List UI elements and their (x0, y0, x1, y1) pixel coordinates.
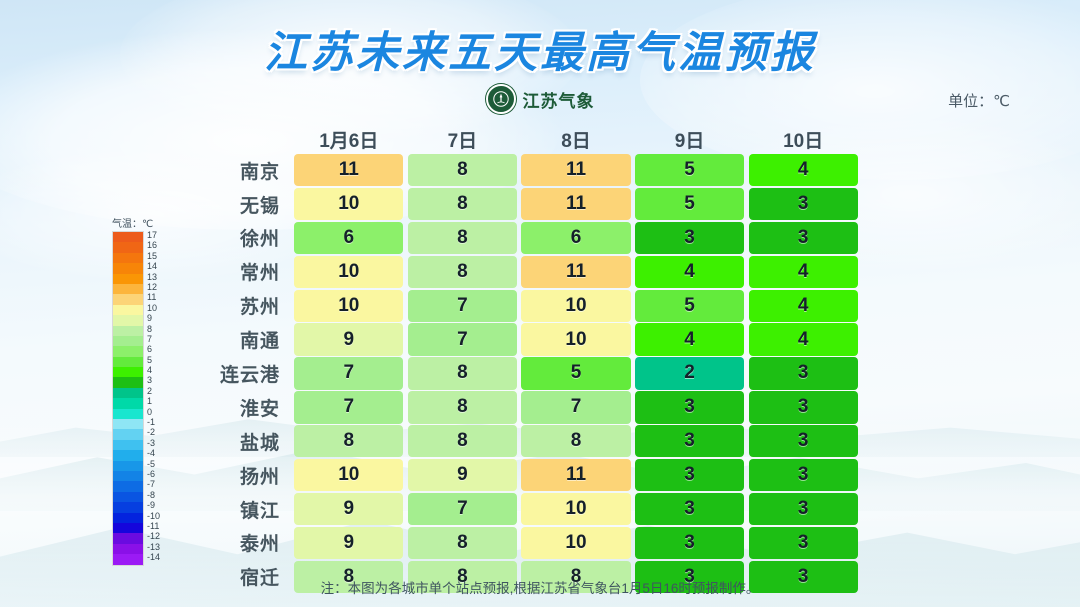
cell-slot: 4 (746, 256, 860, 288)
legend-band-label: 10 (147, 303, 157, 313)
cell-slot: 3 (746, 188, 860, 220)
temperature-cell: 7 (294, 357, 403, 389)
legend-band-label: -11 (147, 521, 159, 531)
temperature-cell: 9 (408, 459, 517, 491)
temperature-cell: 4 (749, 323, 858, 355)
temperature-cell: 10 (294, 290, 403, 322)
legend-band: 10 (113, 305, 143, 315)
cell-slot: 8 (292, 425, 406, 457)
forecast-table: 1月6日7日8日9日10日 南京1181154无锡1081153徐州68633常… (196, 124, 860, 595)
table-row: 南京1181154 (196, 154, 860, 186)
cell-slot: 3 (633, 425, 747, 457)
temperature-cell: 4 (635, 323, 744, 355)
cell-slot: 5 (519, 357, 633, 389)
cell-slot: 10 (292, 256, 406, 288)
column-header-date: 8日 (519, 126, 633, 153)
cell-slot: 8 (406, 188, 520, 220)
legend-band-label: -14 (147, 552, 160, 562)
row-header-city: 南通 (196, 323, 292, 355)
legend-band: 15 (113, 253, 143, 263)
column-header-date: 1月6日 (292, 126, 406, 153)
cell-slot: 3 (746, 493, 860, 525)
legend-band: -1 (113, 419, 143, 429)
cell-slot: 8 (519, 425, 633, 457)
cell-slot: 11 (519, 188, 633, 220)
temperature-cell: 3 (749, 493, 858, 525)
legend-band: 2 (113, 388, 143, 398)
legend-band-label: -7 (147, 479, 155, 489)
temperature-cell: 8 (408, 391, 517, 423)
temperature-cell: 8 (408, 222, 517, 254)
legend-band-label: 8 (147, 324, 152, 334)
temperature-cell: 4 (749, 256, 858, 288)
legend-band: 8 (113, 326, 143, 336)
cell-slot: 10 (292, 290, 406, 322)
legend-band: 6 (113, 346, 143, 356)
legend-band: 12 (113, 284, 143, 294)
table-body: 南京1181154无锡1081153徐州68633常州1081144苏州1071… (196, 154, 860, 593)
temperature-cell: 3 (749, 391, 858, 423)
temperature-cell: 10 (521, 527, 630, 559)
cell-slot: 3 (746, 222, 860, 254)
legend-band-label: 2 (147, 386, 152, 396)
temperature-cell: 10 (521, 290, 630, 322)
legend-band-label: -4 (147, 448, 155, 458)
row-header-city: 盐城 (196, 425, 292, 457)
temperature-cell: 10 (294, 188, 403, 220)
cell-slot: 9 (406, 459, 520, 491)
legend-band: -5 (113, 461, 143, 471)
row-header-city: 泰州 (196, 527, 292, 559)
cell-slot: 3 (633, 527, 747, 559)
temperature-cell: 3 (635, 391, 744, 423)
temperature-cell: 8 (408, 188, 517, 220)
temperature-cell: 9 (294, 527, 403, 559)
temperature-cell: 5 (635, 154, 744, 186)
legend-band-label: 17 (147, 230, 157, 240)
cell-slot: 8 (406, 357, 520, 389)
legend-band: -11 (113, 523, 143, 533)
cell-slot: 3 (633, 222, 747, 254)
legend-band: 0 (113, 409, 143, 419)
cell-slot: 4 (746, 290, 860, 322)
cell-slot: 11 (519, 459, 633, 491)
unit-label: 单位：℃ (948, 90, 1010, 111)
temperature-cell: 11 (521, 188, 630, 220)
legend-band: 3 (113, 377, 143, 387)
legend-band: 5 (113, 357, 143, 367)
legend-band-label: 16 (147, 240, 157, 250)
cell-slot: 10 (292, 188, 406, 220)
temperature-cell: 7 (408, 493, 517, 525)
legend-band-label: 9 (147, 313, 152, 323)
temperature-cell: 4 (749, 290, 858, 322)
legend-band-label: 0 (147, 407, 152, 417)
temperature-cell: 11 (294, 154, 403, 186)
legend-band-label: 15 (147, 251, 157, 261)
cell-slot: 5 (633, 154, 747, 186)
table-row: 盐城88833 (196, 425, 860, 457)
cell-slot: 7 (406, 493, 520, 525)
table-row: 泰州981033 (196, 527, 860, 559)
temperature-cell: 7 (294, 391, 403, 423)
cell-slot: 3 (746, 425, 860, 457)
table-row: 南通971044 (196, 323, 860, 355)
temperature-cell: 10 (294, 256, 403, 288)
temperature-cell: 6 (521, 222, 630, 254)
table-row: 镇江971033 (196, 493, 860, 525)
temperature-cell: 3 (749, 527, 858, 559)
legend-band: 7 (113, 336, 143, 346)
temperature-cell: 3 (749, 357, 858, 389)
column-header-date: 9日 (633, 126, 747, 153)
legend-band-label: -3 (147, 438, 155, 448)
temperature-cell: 8 (408, 527, 517, 559)
legend-title: 气温：℃ (112, 215, 172, 230)
temperature-cell: 3 (749, 459, 858, 491)
row-header-city: 连云港 (196, 357, 292, 389)
legend-band-label: 3 (147, 375, 152, 385)
cell-slot: 9 (292, 527, 406, 559)
table-row: 苏州1071054 (196, 290, 860, 322)
legend-band-label: 5 (147, 355, 152, 365)
temperature-cell: 8 (408, 154, 517, 186)
temperature-cell: 11 (521, 154, 630, 186)
cell-slot: 8 (406, 256, 520, 288)
temperature-cell: 3 (635, 425, 744, 457)
legend-band-label: 12 (147, 282, 157, 292)
temperature-cell: 3 (749, 188, 858, 220)
temperature-cell: 10 (294, 459, 403, 491)
cell-slot: 11 (519, 154, 633, 186)
brand-logo: 江苏气象 (0, 84, 1080, 114)
cell-slot: 3 (746, 459, 860, 491)
row-header-city: 苏州 (196, 290, 292, 322)
legend-band: 1 (113, 398, 143, 408)
cell-slot: 2 (633, 357, 747, 389)
legend-band-label: 1 (147, 396, 152, 406)
legend-band: 4 (113, 367, 143, 377)
legend-band-label: 7 (147, 334, 152, 344)
legend-band: -3 (113, 440, 143, 450)
table-header-row: 1月6日7日8日9日10日 (196, 124, 860, 154)
temperature-cell: 8 (408, 425, 517, 457)
cell-slot: 8 (406, 154, 520, 186)
cell-slot: 7 (406, 323, 520, 355)
temperature-cell: 11 (521, 256, 630, 288)
legend-band: 16 (113, 242, 143, 252)
cell-slot: 9 (292, 323, 406, 355)
legend-band-label: -5 (147, 459, 155, 469)
row-header-city: 淮安 (196, 391, 292, 423)
temperature-cell: 3 (635, 222, 744, 254)
page-title: 江苏未来五天最高气温预报 (0, 18, 1080, 80)
legend-band-label: -1 (147, 417, 155, 427)
legend-band: -12 (113, 533, 143, 543)
legend-band-label: -12 (147, 531, 160, 541)
temperature-cell: 9 (294, 493, 403, 525)
temperature-cell: 8 (294, 425, 403, 457)
legend-band-label: -9 (147, 500, 155, 510)
legend-band-label: 11 (147, 292, 156, 302)
temperature-cell: 3 (635, 527, 744, 559)
cell-slot: 5 (633, 290, 747, 322)
cell-slot: 10 (292, 459, 406, 491)
cell-slot: 7 (292, 357, 406, 389)
cell-slot: 7 (519, 391, 633, 423)
temperature-cell: 7 (521, 391, 630, 423)
row-header-city: 常州 (196, 256, 292, 288)
legend-band-label: -6 (147, 469, 155, 479)
legend-band-label: 13 (147, 272, 157, 282)
legend-band-label: -13 (147, 542, 160, 552)
temperature-cell: 3 (635, 493, 744, 525)
cell-slot: 4 (633, 256, 747, 288)
cell-slot: 8 (406, 391, 520, 423)
cell-slot: 8 (406, 527, 520, 559)
cell-slot: 7 (292, 391, 406, 423)
legend-band: -10 (113, 513, 143, 523)
legend-band: 14 (113, 263, 143, 273)
temperature-cell: 3 (749, 425, 858, 457)
cell-slot: 3 (746, 527, 860, 559)
row-header-city: 扬州 (196, 459, 292, 491)
cell-slot: 10 (519, 493, 633, 525)
legend-band: 9 (113, 315, 143, 325)
temperature-legend: 气温：℃ 17161514131211109876543210-1-2-3-4-… (112, 215, 172, 566)
temperature-cell: 3 (635, 459, 744, 491)
temperature-cell: 10 (521, 493, 630, 525)
legend-band-label: 4 (147, 365, 152, 375)
temperature-cell: 2 (635, 357, 744, 389)
legend-band-label: -2 (147, 427, 155, 437)
table-row: 常州1081144 (196, 256, 860, 288)
cell-slot: 6 (292, 222, 406, 254)
legend-band: -4 (113, 450, 143, 460)
temperature-cell: 3 (749, 222, 858, 254)
footer-note: 注：本图为各城市单个站点预报,根据江苏省气象台1月5日16时预报制作。 (0, 577, 1080, 597)
temperature-cell: 8 (408, 256, 517, 288)
temperature-cell: 5 (635, 290, 744, 322)
column-header-date: 7日 (406, 126, 520, 153)
cell-slot: 3 (746, 391, 860, 423)
legend-band: -8 (113, 492, 143, 502)
brand-name: 江苏气象 (523, 87, 595, 112)
temperature-cell: 7 (408, 323, 517, 355)
cell-slot: 3 (633, 459, 747, 491)
legend-band-label: 6 (147, 344, 152, 354)
cell-slot: 8 (406, 222, 520, 254)
legend-band: -9 (113, 502, 143, 512)
weather-bureau-emblem-icon (486, 84, 516, 114)
legend-band-label: 14 (147, 261, 157, 271)
cell-slot: 4 (746, 323, 860, 355)
cell-slot: 3 (633, 391, 747, 423)
cell-slot: 10 (519, 527, 633, 559)
column-header-date: 10日 (746, 126, 860, 153)
temperature-cell: 7 (408, 290, 517, 322)
cell-slot: 6 (519, 222, 633, 254)
row-header-city: 镇江 (196, 493, 292, 525)
cell-slot: 11 (519, 256, 633, 288)
temperature-cell: 5 (521, 357, 630, 389)
temperature-cell: 6 (294, 222, 403, 254)
legend-color-bands: 17161514131211109876543210-1-2-3-4-5-6-7… (112, 231, 144, 566)
row-header-city: 徐州 (196, 222, 292, 254)
legend-band: 13 (113, 274, 143, 284)
temperature-cell: 11 (521, 459, 630, 491)
table-row: 徐州68633 (196, 222, 860, 254)
temperature-cell: 4 (635, 256, 744, 288)
temperature-cell: 9 (294, 323, 403, 355)
table-row: 淮安78733 (196, 391, 860, 423)
temperature-cell: 10 (521, 323, 630, 355)
legend-band-label: -8 (147, 490, 155, 500)
cell-slot: 4 (633, 323, 747, 355)
legend-band: -7 (113, 481, 143, 491)
legend-band: -14 (113, 554, 143, 564)
table-row: 连云港78523 (196, 357, 860, 389)
temperature-cell: 4 (749, 154, 858, 186)
legend-band-label: -10 (147, 511, 160, 521)
temperature-cell: 5 (635, 188, 744, 220)
cell-slot: 10 (519, 290, 633, 322)
cell-slot: 9 (292, 493, 406, 525)
legend-band: -6 (113, 471, 143, 481)
cell-slot: 3 (633, 493, 747, 525)
legend-band: 11 (113, 294, 143, 304)
cell-slot: 4 (746, 154, 860, 186)
cell-slot: 8 (406, 425, 520, 457)
legend-band: 17 (113, 232, 143, 242)
table-row: 无锡1081153 (196, 188, 860, 220)
legend-band: -2 (113, 429, 143, 439)
legend-band: -13 (113, 544, 143, 554)
row-header-city: 无锡 (196, 188, 292, 220)
cell-slot: 10 (519, 323, 633, 355)
table-row: 扬州1091133 (196, 459, 860, 491)
cell-slot: 7 (406, 290, 520, 322)
temperature-cell: 8 (408, 357, 517, 389)
cell-slot: 5 (633, 188, 747, 220)
cell-slot: 3 (746, 357, 860, 389)
temperature-cell: 8 (521, 425, 630, 457)
cell-slot: 11 (292, 154, 406, 186)
row-header-city: 南京 (196, 154, 292, 186)
